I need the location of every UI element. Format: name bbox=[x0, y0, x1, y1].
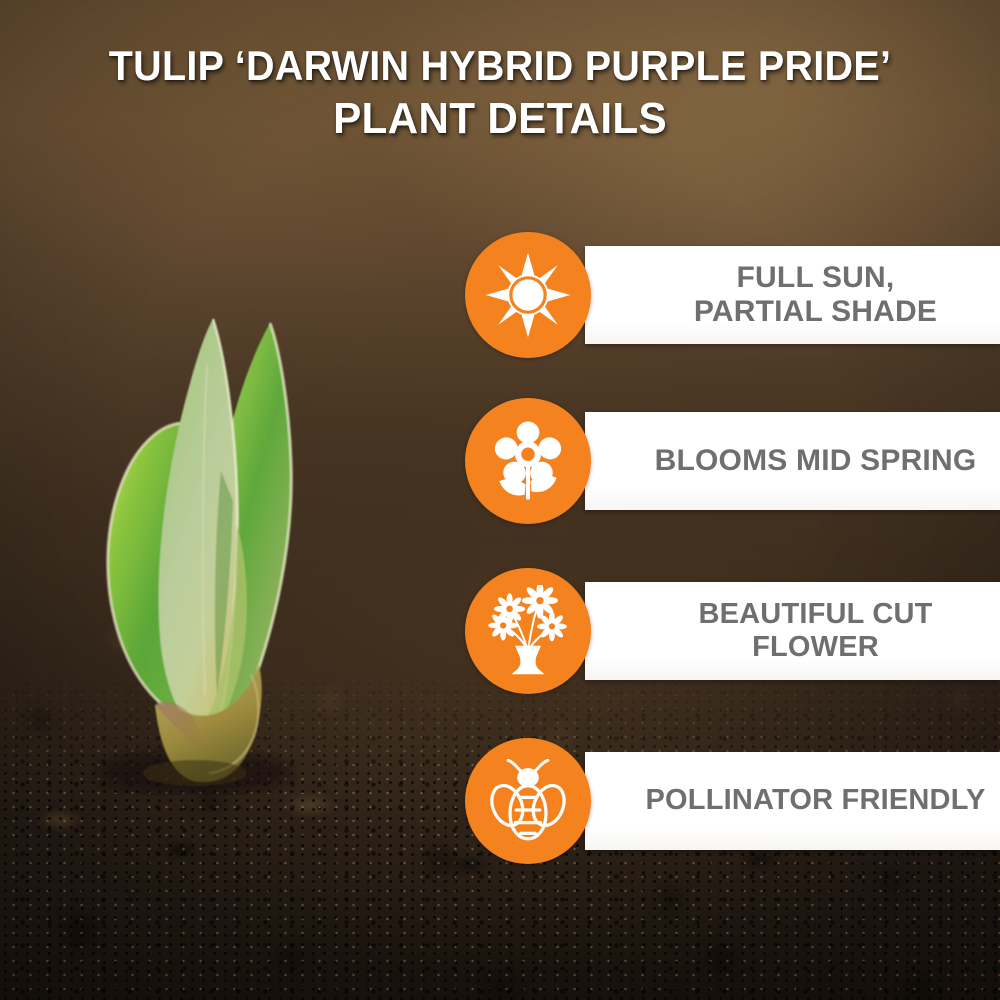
feature-row-pollinator-friendly[interactable]: POLLINATOR FRIENDLY bbox=[465, 738, 1000, 864]
feature-row-full-sun[interactable]: FULL SUN, PARTIAL SHADE bbox=[465, 232, 1000, 358]
feature-label-blooms: BLOOMS MID SPRING bbox=[655, 444, 977, 478]
cut-flower-vase-icon bbox=[465, 568, 591, 694]
feature-row-blooms-mid-spring[interactable]: BLOOMS MID SPRING bbox=[465, 398, 1000, 524]
feature-bar: BEAUTIFUL CUT FLOWER bbox=[585, 582, 1000, 680]
feature-bar: FULL SUN, PARTIAL SHADE bbox=[585, 246, 1000, 344]
feature-label-full-sun: FULL SUN, PARTIAL SHADE bbox=[694, 261, 937, 329]
feature-label-pollinator: POLLINATOR FRIENDLY bbox=[645, 784, 985, 817]
feature-row-cut-flower[interactable]: BEAUTIFUL CUT FLOWER bbox=[465, 568, 1000, 694]
plant-details-list: FULL SUN, PARTIAL SHADE bbox=[0, 0, 1000, 1000]
sun-icon bbox=[465, 232, 591, 358]
feature-bar: BLOOMS MID SPRING bbox=[585, 412, 1000, 510]
feature-label-cut-flower: BEAUTIFUL CUT FLOWER bbox=[645, 598, 986, 664]
bee-icon bbox=[465, 738, 591, 864]
flower-icon bbox=[465, 398, 591, 524]
feature-bar: POLLINATOR FRIENDLY bbox=[585, 752, 1000, 850]
